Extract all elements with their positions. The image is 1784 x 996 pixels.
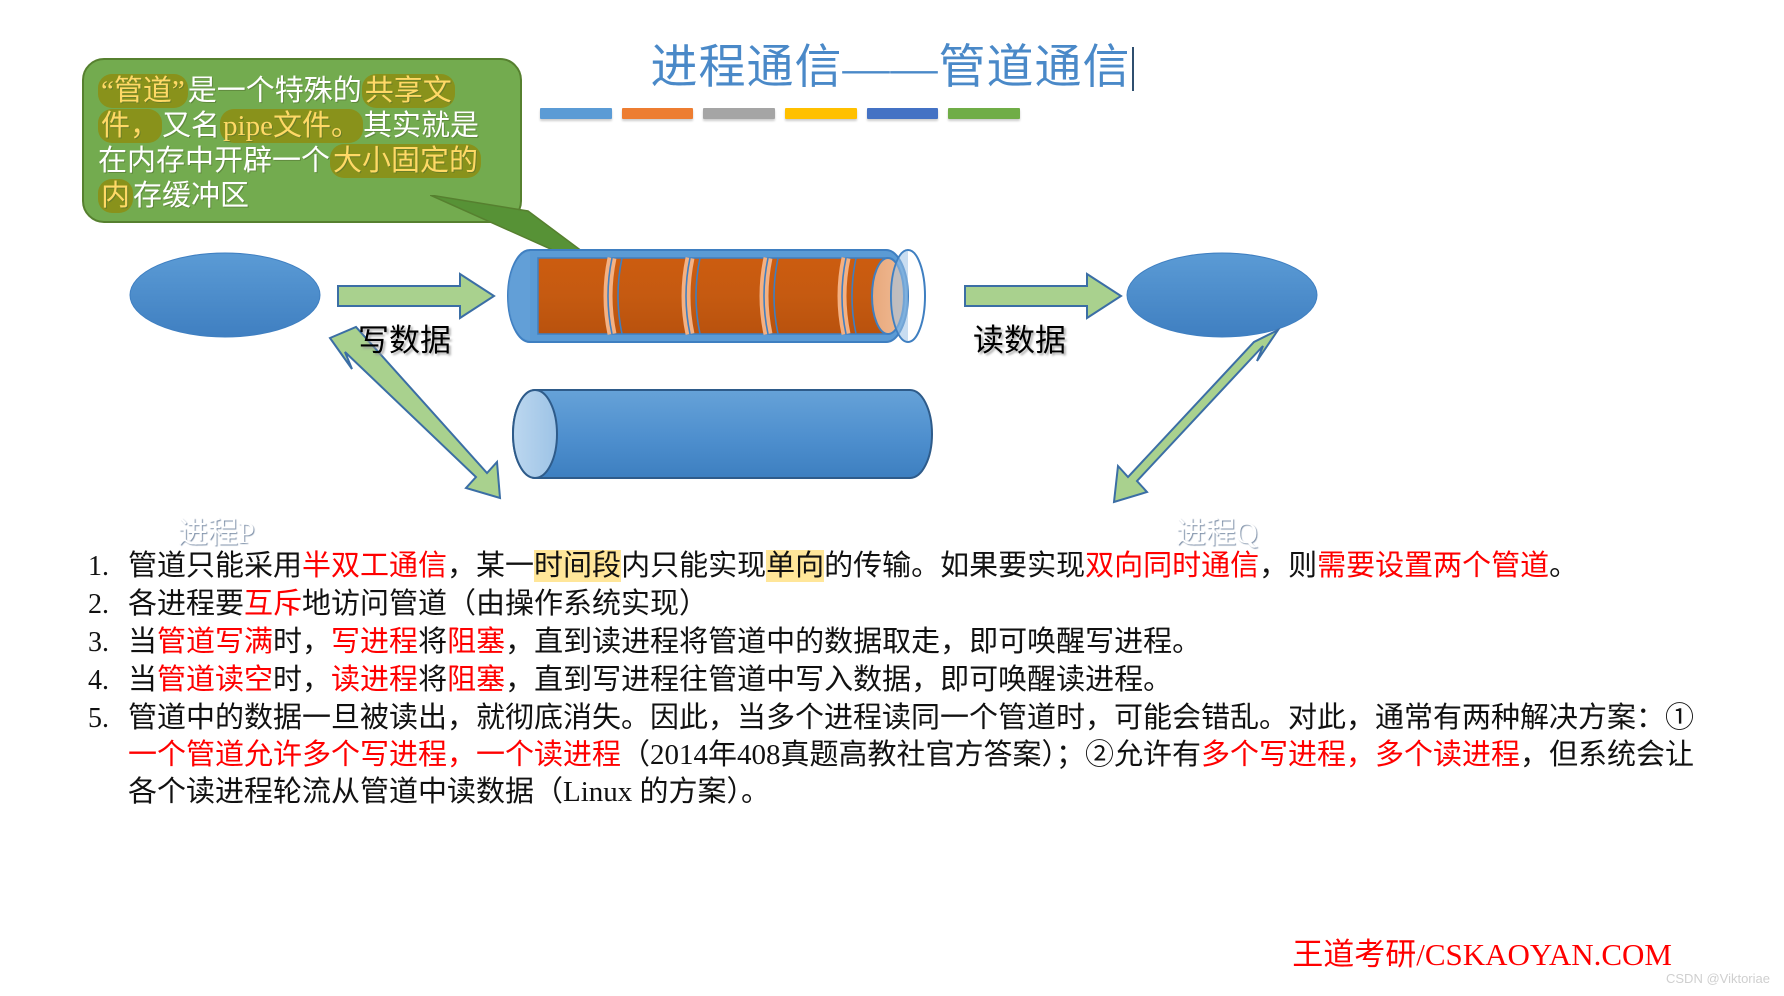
list-item-body: 管道中的数据一旦被读出，就彻底消失。因此，当多个进程读同一个管道时，可能会错乱。… xyxy=(128,700,1722,811)
list-item: 5.管道中的数据一旦被读出，就彻底消失。因此，当多个进程读同一个管道时，可能会错… xyxy=(82,700,1722,811)
callout-segment-4: pipe文件。 xyxy=(220,109,363,143)
process-q-shape xyxy=(1127,253,1317,337)
list-item-number: 4. xyxy=(82,662,128,699)
point-2-segment-1: 管道写满 xyxy=(157,626,273,658)
list-item-body: 管道只能采用半双工通信，某一时间段内只能实现单向的传输。如果要实现双向同时通信，… xyxy=(128,548,1722,585)
watermark-label: CSDN @Viktoriae xyxy=(1666,971,1770,986)
point-3-segment-2: 时， xyxy=(273,664,331,696)
point-0-segment-0: 管道只能采用 xyxy=(128,550,302,582)
list-item-number: 1. xyxy=(82,548,128,585)
brand-footer: 王道考研/CSKAOYAN.COM xyxy=(1292,929,1672,974)
bar-green xyxy=(948,108,1020,119)
point-2-segment-2: 时， xyxy=(273,626,331,658)
list-item-body: 当管道读空时，读进程将阻塞，直到写进程往管道中写入数据，即可唤醒读进程。 xyxy=(128,662,1722,699)
list-item: 1.管道只能采用半双工通信，某一时间段内只能实现单向的传输。如果要实现双向同时通… xyxy=(82,548,1722,585)
list-item: 3.当管道写满时，写进程将阻塞，直到读进程将管道中的数据取走，即可唤醒写进程。 xyxy=(82,624,1722,661)
point-4-segment-0: 管道中的数据一旦被读出，就彻底消失。因此，当多个进程读同一个管道时，可能会错乱。… xyxy=(128,702,1694,734)
blue-pipe-shape xyxy=(513,390,932,478)
point-0-segment-9: 需要设置两个管道 xyxy=(1317,550,1549,582)
callout-segment-3: 又名 xyxy=(162,110,220,142)
color-bar-strip xyxy=(540,108,1020,120)
list-item: 2.各进程要互斥地访问管道（由操作系统实现） xyxy=(82,586,1722,623)
point-3-segment-4: 将 xyxy=(418,664,447,696)
bar-blue xyxy=(540,108,612,119)
point-2-segment-3: 写进程 xyxy=(331,626,418,658)
point-0-segment-2: ，某一 xyxy=(447,550,534,582)
callout-segment-0: “管道” xyxy=(98,74,188,108)
text-cursor xyxy=(1132,47,1134,91)
page-title-text: 进程通信——管道通信 xyxy=(651,42,1131,94)
read-arrow-icon xyxy=(965,274,1121,318)
point-0-segment-7: 双向同时通信 xyxy=(1085,550,1259,582)
point-4-segment-1: 一个管道允许多个写进程，一个读进程 xyxy=(128,739,621,771)
speech-bubble-text: “管道”是一个特殊的共享文件，又名pipe文件。其实就是在内存中开辟一个大小固定… xyxy=(98,74,502,214)
point-3-segment-1: 管道读空 xyxy=(157,664,273,696)
point-0-segment-3: 时间段 xyxy=(534,550,621,582)
point-0-segment-5: 单向 xyxy=(766,550,824,582)
point-3-segment-6: ，直到写进程往管道中写入数据，即可唤醒读进程。 xyxy=(505,664,1172,696)
write-arrow-icon xyxy=(338,274,494,318)
callout-segment-1: 是一个特殊的 xyxy=(188,75,362,107)
bar-orange xyxy=(622,108,694,119)
point-1-segment-1: 互斥 xyxy=(244,588,302,620)
q-to-blue-pipe-arrow-icon xyxy=(1114,330,1278,502)
point-0-segment-10: 。 xyxy=(1549,550,1578,582)
point-4-segment-2: （2014年408真题高教社官方答案）；②允许有 xyxy=(621,739,1201,771)
point-2-segment-6: ，直到读进程将管道中的数据取走，即可唤醒写进程。 xyxy=(505,626,1201,658)
point-0-segment-6: 的传输。如果要实现 xyxy=(824,550,1085,582)
process-p-shape xyxy=(130,253,320,337)
process-q-label: 进程Q xyxy=(1176,508,1258,552)
list-item-body: 各进程要互斥地访问管道（由操作系统实现） xyxy=(128,586,1722,623)
bar-yellow xyxy=(785,108,857,119)
orange-pipe-shape xyxy=(508,250,925,342)
point-2-segment-5: 阻塞 xyxy=(447,626,505,658)
list-item-number: 2. xyxy=(82,586,128,623)
point-3-segment-0: 当 xyxy=(128,664,157,696)
process-p-label: 进程P xyxy=(178,508,255,552)
point-0-segment-1: 半双工通信 xyxy=(302,550,447,582)
list-item-number: 5. xyxy=(82,700,128,737)
diagram-canvas xyxy=(0,230,1784,520)
write-arrow-label: 写数据 xyxy=(358,315,451,360)
point-1-segment-0: 各进程要 xyxy=(128,588,244,620)
pipe-communication-diagram: 进程P 进程Q 写数据 读数据 xyxy=(0,230,1784,520)
point-2-segment-4: 将 xyxy=(418,626,447,658)
callout-segment-7: 存缓冲区 xyxy=(133,180,249,212)
speech-bubble-callout: “管道”是一个特殊的共享文件，又名pipe文件。其实就是在内存中开辟一个大小固定… xyxy=(82,58,522,223)
list-item-body: 当管道写满时，写进程将阻塞，直到读进程将管道中的数据取走，即可唤醒写进程。 xyxy=(128,624,1722,661)
list-item-number: 3. xyxy=(82,624,128,661)
point-1-segment-2: 地访问管道（由操作系统实现） xyxy=(302,588,708,620)
list-item: 4.当管道读空时，读进程将阻塞，直到写进程往管道中写入数据，即可唤醒读进程。 xyxy=(82,662,1722,699)
point-3-segment-5: 阻塞 xyxy=(447,664,505,696)
point-2-segment-0: 当 xyxy=(128,626,157,658)
point-0-segment-8: ，则 xyxy=(1259,550,1317,582)
bar-gray xyxy=(703,108,775,119)
point-4-segment-3: 多个写进程，多个读进程 xyxy=(1201,739,1520,771)
key-points-list: 1.管道只能采用半双工通信，某一时间段内只能实现单向的传输。如果要实现双向同时通… xyxy=(82,548,1722,812)
read-arrow-label: 读数据 xyxy=(973,315,1066,360)
point-3-segment-3: 读进程 xyxy=(331,664,418,696)
point-0-segment-4: 内只能实现 xyxy=(621,550,766,582)
bar-indigo xyxy=(867,108,939,119)
